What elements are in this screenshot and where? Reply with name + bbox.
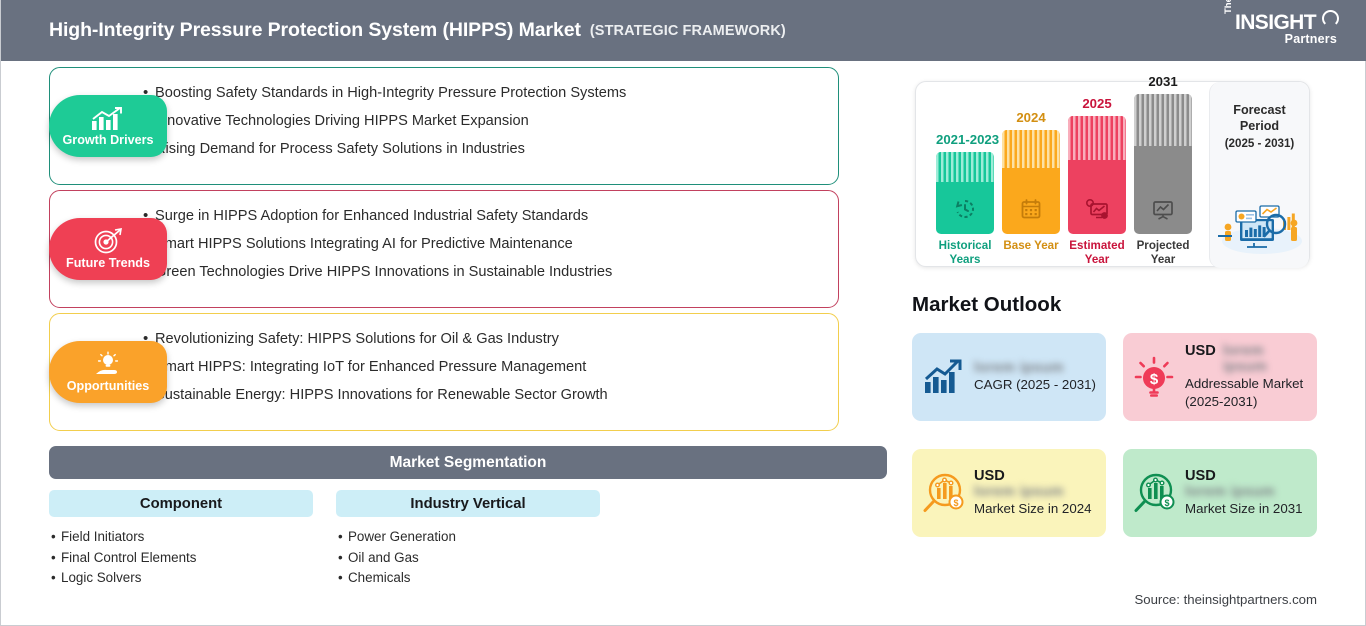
segmentation-column-component: Component Field Initiators Final Control… (49, 490, 313, 589)
list-item: Chemicals (348, 568, 600, 589)
left-column: Boosting Safety Standards in High-Integr… (1, 61, 901, 626)
bar-group-base: 2024 Base Year (1002, 130, 1060, 234)
source-attribution: Source: theinsightpartners.com (1134, 592, 1317, 607)
badge-growth-drivers[interactable]: Growth Drivers (49, 95, 167, 157)
bar-stripe-top (1002, 130, 1060, 168)
badge-opportunities[interactable]: Opportunities (49, 341, 167, 403)
insight-list-future-trends: Surge in HIPPS Adoption for Enhanced Ind… (50, 191, 838, 298)
bar-year-label: 2024 (1002, 110, 1060, 125)
svg-text:$: $ (953, 498, 958, 508)
list-item: Logic Solvers (61, 568, 313, 589)
insight-list-opportunities: Revolutionizing Safety: HIPPS Solutions … (50, 314, 838, 421)
list-item: Sustainable Energy: HIPPS Innovations fo… (155, 381, 838, 409)
outlook-card-addressable-market[interactable]: $ USD lorem ipsum Addressable Market (20… (1123, 333, 1317, 421)
list-item: Rising Demand for Process Safety Solutio… (155, 135, 838, 163)
outlook-currency-prefix: USD (1185, 468, 1311, 484)
bar (1002, 130, 1060, 234)
bar-caption: Base Year (996, 239, 1066, 253)
history-clock-icon (936, 198, 994, 220)
logo-the-text: The (1223, 0, 1234, 14)
svg-text:$: $ (1164, 498, 1169, 508)
outlook-value-row: lorem ipsum (1185, 484, 1311, 500)
outlook-card-text: USD lorem ipsum Market Size in 2024 (974, 468, 1106, 518)
market-segmentation-header: Market Segmentation (49, 446, 887, 479)
svg-text:$: $ (1150, 371, 1159, 388)
page-title: High-Integrity Pressure Protection Syste… (49, 19, 581, 42)
outlook-card-text: USD lorem ipsum Market Size in 2031 (1185, 468, 1317, 518)
segmentation-column-industry-vertical: Industry Vertical Power Generation Oil a… (336, 490, 600, 589)
list-item: Surge in HIPPS Adoption for Enhanced Ind… (155, 202, 838, 230)
segmentation-list: Field Initiators Final Control Elements … (49, 527, 313, 589)
outlook-card-cagr[interactable]: lorem ipsum CAGR (2025 - 2031) (912, 333, 1106, 421)
infographic-page: High-Integrity Pressure Protection Syste… (0, 0, 1366, 626)
insight-box-growth-drivers: Boosting Safety Standards in High-Integr… (49, 67, 839, 185)
market-outlook-title: Market Outlook (912, 293, 1061, 317)
target-arrow-icon (93, 229, 123, 254)
outlook-card-label: Market Size in 2031 (1185, 500, 1311, 518)
insight-box-future-trends: Surge in HIPPS Adoption for Enhanced Ind… (49, 190, 839, 308)
growth-chart-icon (912, 358, 974, 396)
outlook-card-text: USD lorem ipsum Addressable Market (2025… (1185, 343, 1317, 412)
bar-caption: Historical Years (930, 239, 1000, 267)
outlook-value-row: USD lorem ipsum (1185, 343, 1311, 375)
bar-group-estimated: 2025 Estimated (1068, 116, 1126, 234)
insight-list-growth-drivers: Boosting Safety Standards in High-Integr… (50, 68, 838, 175)
bar-stripe-top (1068, 116, 1126, 160)
right-column: 2021-2023 Historical Years (901, 61, 1366, 626)
outlook-value-row: lorem ipsum (974, 360, 1100, 376)
bar-year-label: 2021-2023 (936, 132, 994, 147)
list-item: Final Control Elements (61, 548, 313, 569)
outlook-value: lorem ipsum (974, 360, 1064, 376)
calendar-icon (1002, 198, 1060, 220)
bar-year-label: 2025 (1068, 96, 1126, 111)
outlook-value: lorem ipsum (1223, 343, 1311, 375)
segmentation-list: Power Generation Oil and Gas Chemicals (336, 527, 600, 589)
badge-future-trends[interactable]: Future Trends (49, 218, 167, 280)
bar-year-label: 2031 (1134, 74, 1192, 89)
outlook-currency-prefix: USD (974, 468, 1100, 484)
bar (1068, 116, 1126, 234)
outlook-card-market-size-2031[interactable]: $ USD lorem ipsum Market Size in 2031 (1123, 449, 1317, 537)
forecast-period-panel: Forecast Period (2025 - 2031) (1209, 82, 1309, 268)
outlook-card-market-size-2024[interactable]: $ USD lorem ipsum Market Size in 2024 (912, 449, 1106, 537)
list-item: Oil and Gas (348, 548, 600, 569)
projection-screen-icon (1134, 198, 1192, 220)
timeline-bar-chart: 2021-2023 Historical Years (932, 90, 1200, 266)
bar-stripe-top (936, 152, 994, 182)
outlook-currency-prefix: USD (1185, 343, 1216, 359)
list-item: Revolutionizing Safety: HIPPS Solutions … (155, 325, 838, 353)
header-bar: High-Integrity Pressure Protection Syste… (1, 0, 1366, 61)
list-item: Field Initiators (61, 527, 313, 548)
forecast-period-title: Forecast Period (1210, 102, 1309, 134)
badge-label: Future Trends (66, 256, 150, 270)
bar (1134, 94, 1192, 234)
segmentation-chip: Industry Vertical (336, 490, 600, 517)
bar (936, 152, 994, 234)
badge-label: Growth Drivers (63, 133, 154, 147)
list-item: Boosting Safety Standards in High-Integr… (155, 79, 838, 107)
hand-lightbulb-icon (91, 352, 125, 377)
outlook-card-label: Market Size in 2024 (974, 500, 1100, 518)
bar-caption: Estimated Year (1062, 239, 1132, 267)
list-item: Smart HIPPS Solutions Integrating AI for… (155, 230, 838, 258)
list-item: Innovative Technologies Driving HIPPS Ma… (155, 107, 838, 135)
list-item: Power Generation (348, 527, 600, 548)
bar-group-historical: 2021-2023 Historical Years (936, 152, 994, 234)
outlook-card-label: Addressable Market (2025-2031) (1185, 375, 1311, 412)
badge-label: Opportunities (67, 379, 150, 393)
bar-chart-arrow-icon (90, 106, 126, 131)
list-item: Smart HIPPS: Integrating IoT for Enhance… (155, 353, 838, 381)
outlook-value: lorem ipsum (1185, 484, 1275, 500)
forecast-monitor-icon (1068, 198, 1126, 220)
logo-partners-text: Partners (1285, 32, 1337, 46)
logo-ring-icon (1322, 10, 1339, 27)
bar-stripe-top (1134, 94, 1192, 146)
outlook-value-row: lorem ipsum (974, 484, 1100, 500)
list-item: Green Technologies Drive HIPPS Innovatio… (155, 258, 838, 286)
bar-caption: Projected Year (1128, 239, 1198, 267)
forecast-title-line1: Forecast (1210, 102, 1309, 118)
analytics-illustration-icon (1214, 189, 1306, 260)
dollar-bulb-icon: $ (1123, 356, 1185, 398)
page-subtitle: (STRATEGIC FRAMEWORK) (590, 23, 786, 39)
outlook-value: lorem ipsum (974, 484, 1064, 500)
outlook-card-text: lorem ipsum CAGR (2025 - 2031) (974, 360, 1106, 394)
magnifier-chart-orange-icon: $ (912, 471, 974, 515)
brand-logo: The INSIGHT Partners (1221, 10, 1341, 52)
bar-group-projected: 2031 Projected Year (1134, 94, 1192, 234)
outlook-card-label: CAGR (2025 - 2031) (974, 376, 1100, 394)
magnifier-chart-green-icon: $ (1123, 471, 1185, 515)
forecast-timeline-card: 2021-2023 Historical Years (915, 81, 1310, 267)
forecast-title-line2: Period (1210, 118, 1309, 134)
segmentation-chip: Component (49, 490, 313, 517)
insight-box-opportunities: Revolutionizing Safety: HIPPS Solutions … (49, 313, 839, 431)
forecast-period-range: (2025 - 2031) (1210, 137, 1309, 150)
